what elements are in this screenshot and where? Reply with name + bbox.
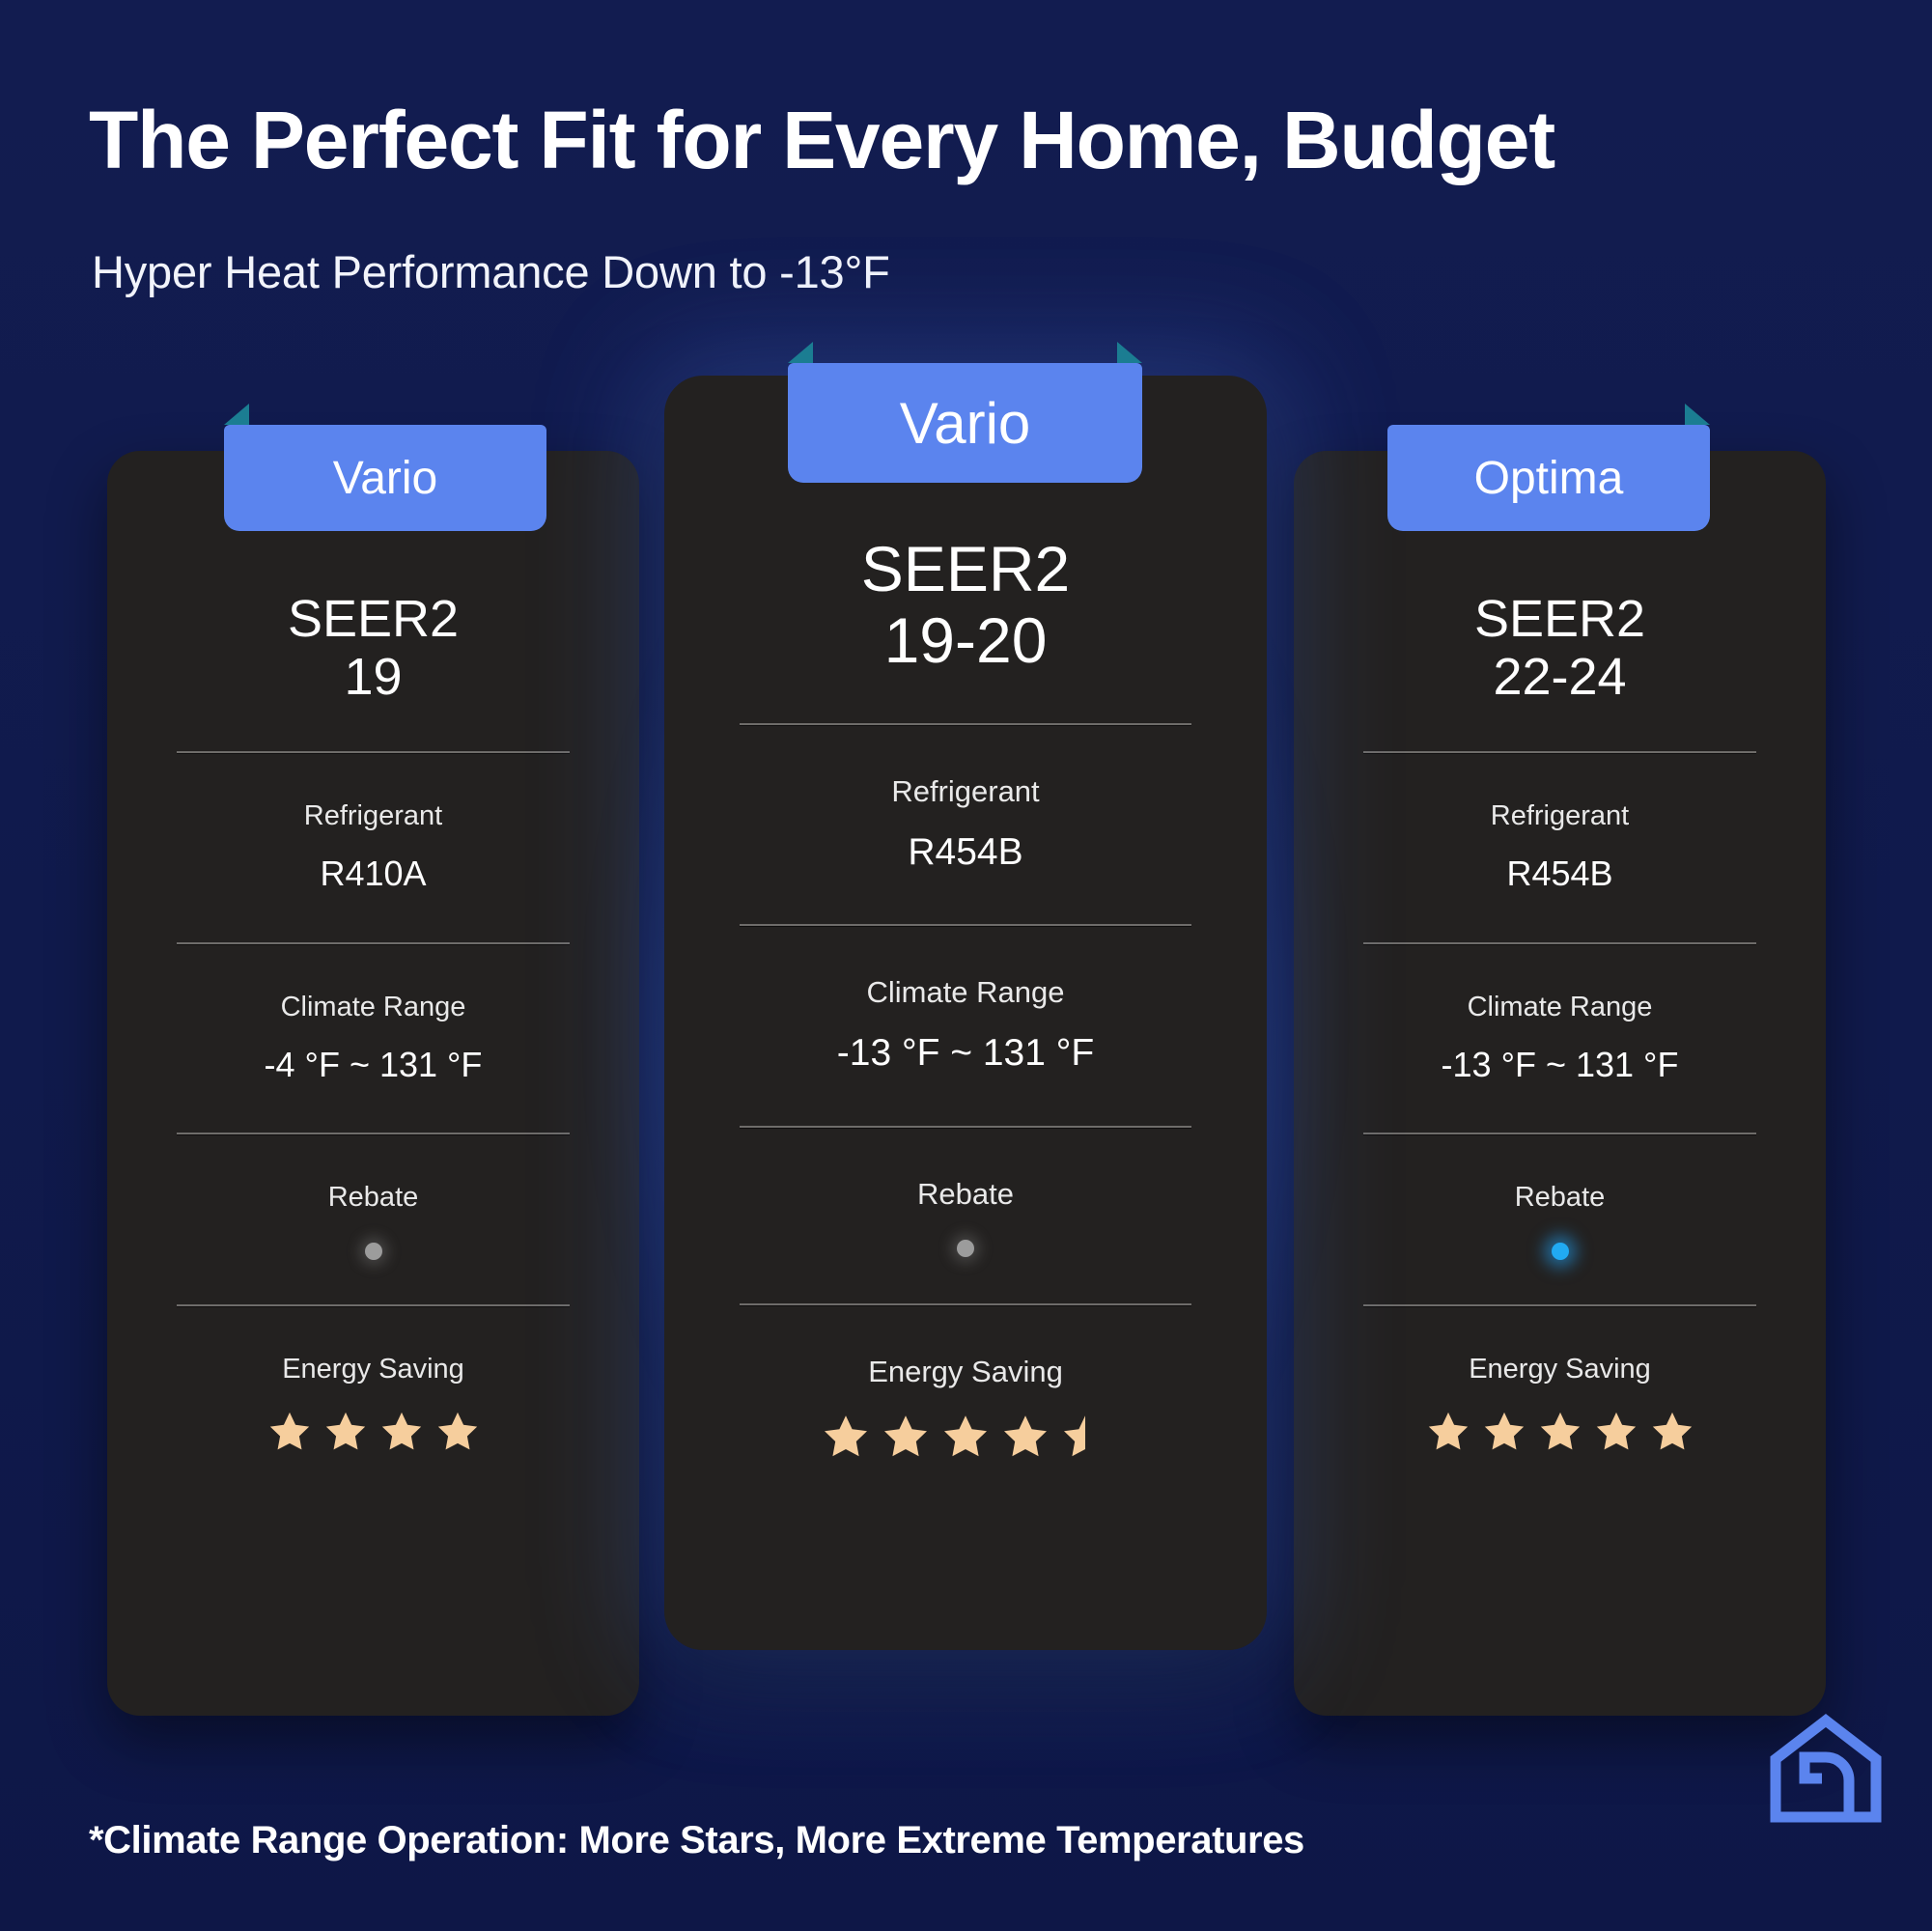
spec-label: Refrigerant: [740, 771, 1191, 812]
seer-label: SEER2: [288, 590, 459, 648]
star-icon: [1539, 1410, 1582, 1452]
spec-energy-saving: Energy Saving: [740, 1352, 1191, 1460]
footnote: *Climate Range Operation: More Stars, Mo…: [89, 1819, 1304, 1862]
ribbon-label: Optima: [1474, 452, 1624, 505]
star-icon: [1651, 1410, 1694, 1452]
ribbon-fold-icon: [1685, 404, 1710, 425]
seer-label: SEER2: [861, 534, 1070, 605]
star-icon: [268, 1410, 311, 1452]
spec-climate-range: Climate Range -4 °F ~ 131 °F: [177, 989, 570, 1089]
spec-label: Energy Saving: [1363, 1351, 1756, 1388]
divider: [740, 924, 1191, 926]
spec-label: Climate Range: [177, 989, 570, 1026]
spec-refrigerant: Refrigerant R410A: [177, 798, 570, 898]
ribbon-label: Vario: [900, 390, 1031, 457]
seer-value: 19: [344, 648, 402, 706]
product-card-vario-featured[interactable]: SEER2 19-20 Refrigerant R454B Climate Ra…: [664, 376, 1267, 1650]
spec-label: Refrigerant: [1363, 798, 1756, 835]
star-icon: [823, 1413, 869, 1459]
page-subtitle: Hyper Heat Performance Down to -13°F: [92, 249, 890, 294]
star-icon: [1595, 1410, 1638, 1452]
ribbon-fold-icon: [788, 342, 813, 363]
divider: [177, 751, 570, 753]
product-card-optima-right[interactable]: SEER2 22-24 Refrigerant R454B Climate Ra…: [1294, 451, 1826, 1716]
product-card-vario-left[interactable]: SEER2 19 Refrigerant R410A Climate Range…: [107, 451, 639, 1716]
spec-label: Refrigerant: [177, 798, 570, 835]
spec-label: Rebate: [740, 1174, 1191, 1215]
divider: [1363, 751, 1756, 753]
page-title: The Perfect Fit for Every Home, Budget: [89, 99, 1554, 181]
spec-value: -13 °F ~ 131 °F: [1363, 1042, 1756, 1089]
spec-rebate: Rebate: [740, 1174, 1191, 1257]
divider: [740, 1126, 1191, 1128]
spec-energy-saving: Energy Saving: [177, 1351, 570, 1452]
divider: [1363, 1133, 1756, 1134]
seer-value: 22-24: [1493, 648, 1626, 706]
spec-climate-range: Climate Range -13 °F ~ 131 °F: [740, 972, 1191, 1078]
star-icon: [882, 1413, 929, 1459]
rebate-dot-icon: [365, 1243, 382, 1260]
star-icon: [324, 1410, 367, 1452]
spec-label: Rebate: [1363, 1179, 1756, 1217]
infographic-canvas: The Perfect Fit for Every Home, Budget H…: [0, 0, 1932, 1931]
spec-value: R454B: [740, 827, 1191, 879]
divider: [740, 1303, 1191, 1305]
card-body: SEER2 19 Refrigerant R410A Climate Range…: [107, 557, 639, 1452]
spec-label: Climate Range: [1363, 989, 1756, 1026]
star-rating: [177, 1410, 570, 1452]
card-body: SEER2 19-20 Refrigerant R454B Climate Ra…: [664, 495, 1267, 1459]
divider: [177, 1304, 570, 1306]
ribbon-badge-vario-left[interactable]: Vario: [224, 425, 546, 531]
spec-energy-saving: Energy Saving: [1363, 1351, 1756, 1452]
rebate-dot-icon: [957, 1240, 974, 1257]
seer-value: 19-20: [884, 605, 1048, 677]
spec-value: R410A: [177, 851, 570, 898]
ribbon-fold-icon: [224, 404, 249, 425]
spec-rebate: Rebate: [1363, 1179, 1756, 1259]
spec-value: -13 °F ~ 131 °F: [740, 1028, 1191, 1079]
seer-label: SEER2: [1474, 590, 1645, 648]
spec-label: Energy Saving: [177, 1351, 570, 1388]
spec-value: R454B: [1363, 851, 1756, 898]
house-logo: [1766, 1711, 1886, 1830]
star-icon: [942, 1413, 989, 1459]
half-star-icon: [1062, 1413, 1108, 1459]
divider: [740, 723, 1191, 725]
ribbon-label: Vario: [333, 452, 438, 505]
card-body: SEER2 22-24 Refrigerant R454B Climate Ra…: [1294, 557, 1826, 1452]
star-rating: [740, 1413, 1191, 1459]
spec-label: Climate Range: [740, 972, 1191, 1013]
divider: [1363, 942, 1756, 944]
divider: [177, 942, 570, 944]
spec-climate-range: Climate Range -13 °F ~ 131 °F: [1363, 989, 1756, 1089]
spec-rebate: Rebate: [177, 1179, 570, 1259]
star-icon: [1002, 1413, 1049, 1459]
spec-refrigerant: Refrigerant R454B: [1363, 798, 1756, 898]
divider: [1363, 1304, 1756, 1306]
spec-label: Rebate: [177, 1179, 570, 1217]
star-rating: [1363, 1410, 1756, 1452]
spec-value: -4 °F ~ 131 °F: [177, 1042, 570, 1089]
rebate-dot-icon: [1552, 1243, 1569, 1260]
spec-label: Energy Saving: [740, 1352, 1191, 1392]
spec-refrigerant: Refrigerant R454B: [740, 771, 1191, 878]
divider: [177, 1133, 570, 1134]
star-icon: [1483, 1410, 1526, 1452]
ribbon-badge-optima-right[interactable]: Optima: [1387, 425, 1710, 531]
ribbon-badge-vario-featured[interactable]: Vario: [788, 363, 1142, 483]
ribbon-fold-icon: [1117, 342, 1142, 363]
star-icon: [380, 1410, 423, 1452]
star-icon: [436, 1410, 479, 1452]
star-icon: [1427, 1410, 1470, 1452]
